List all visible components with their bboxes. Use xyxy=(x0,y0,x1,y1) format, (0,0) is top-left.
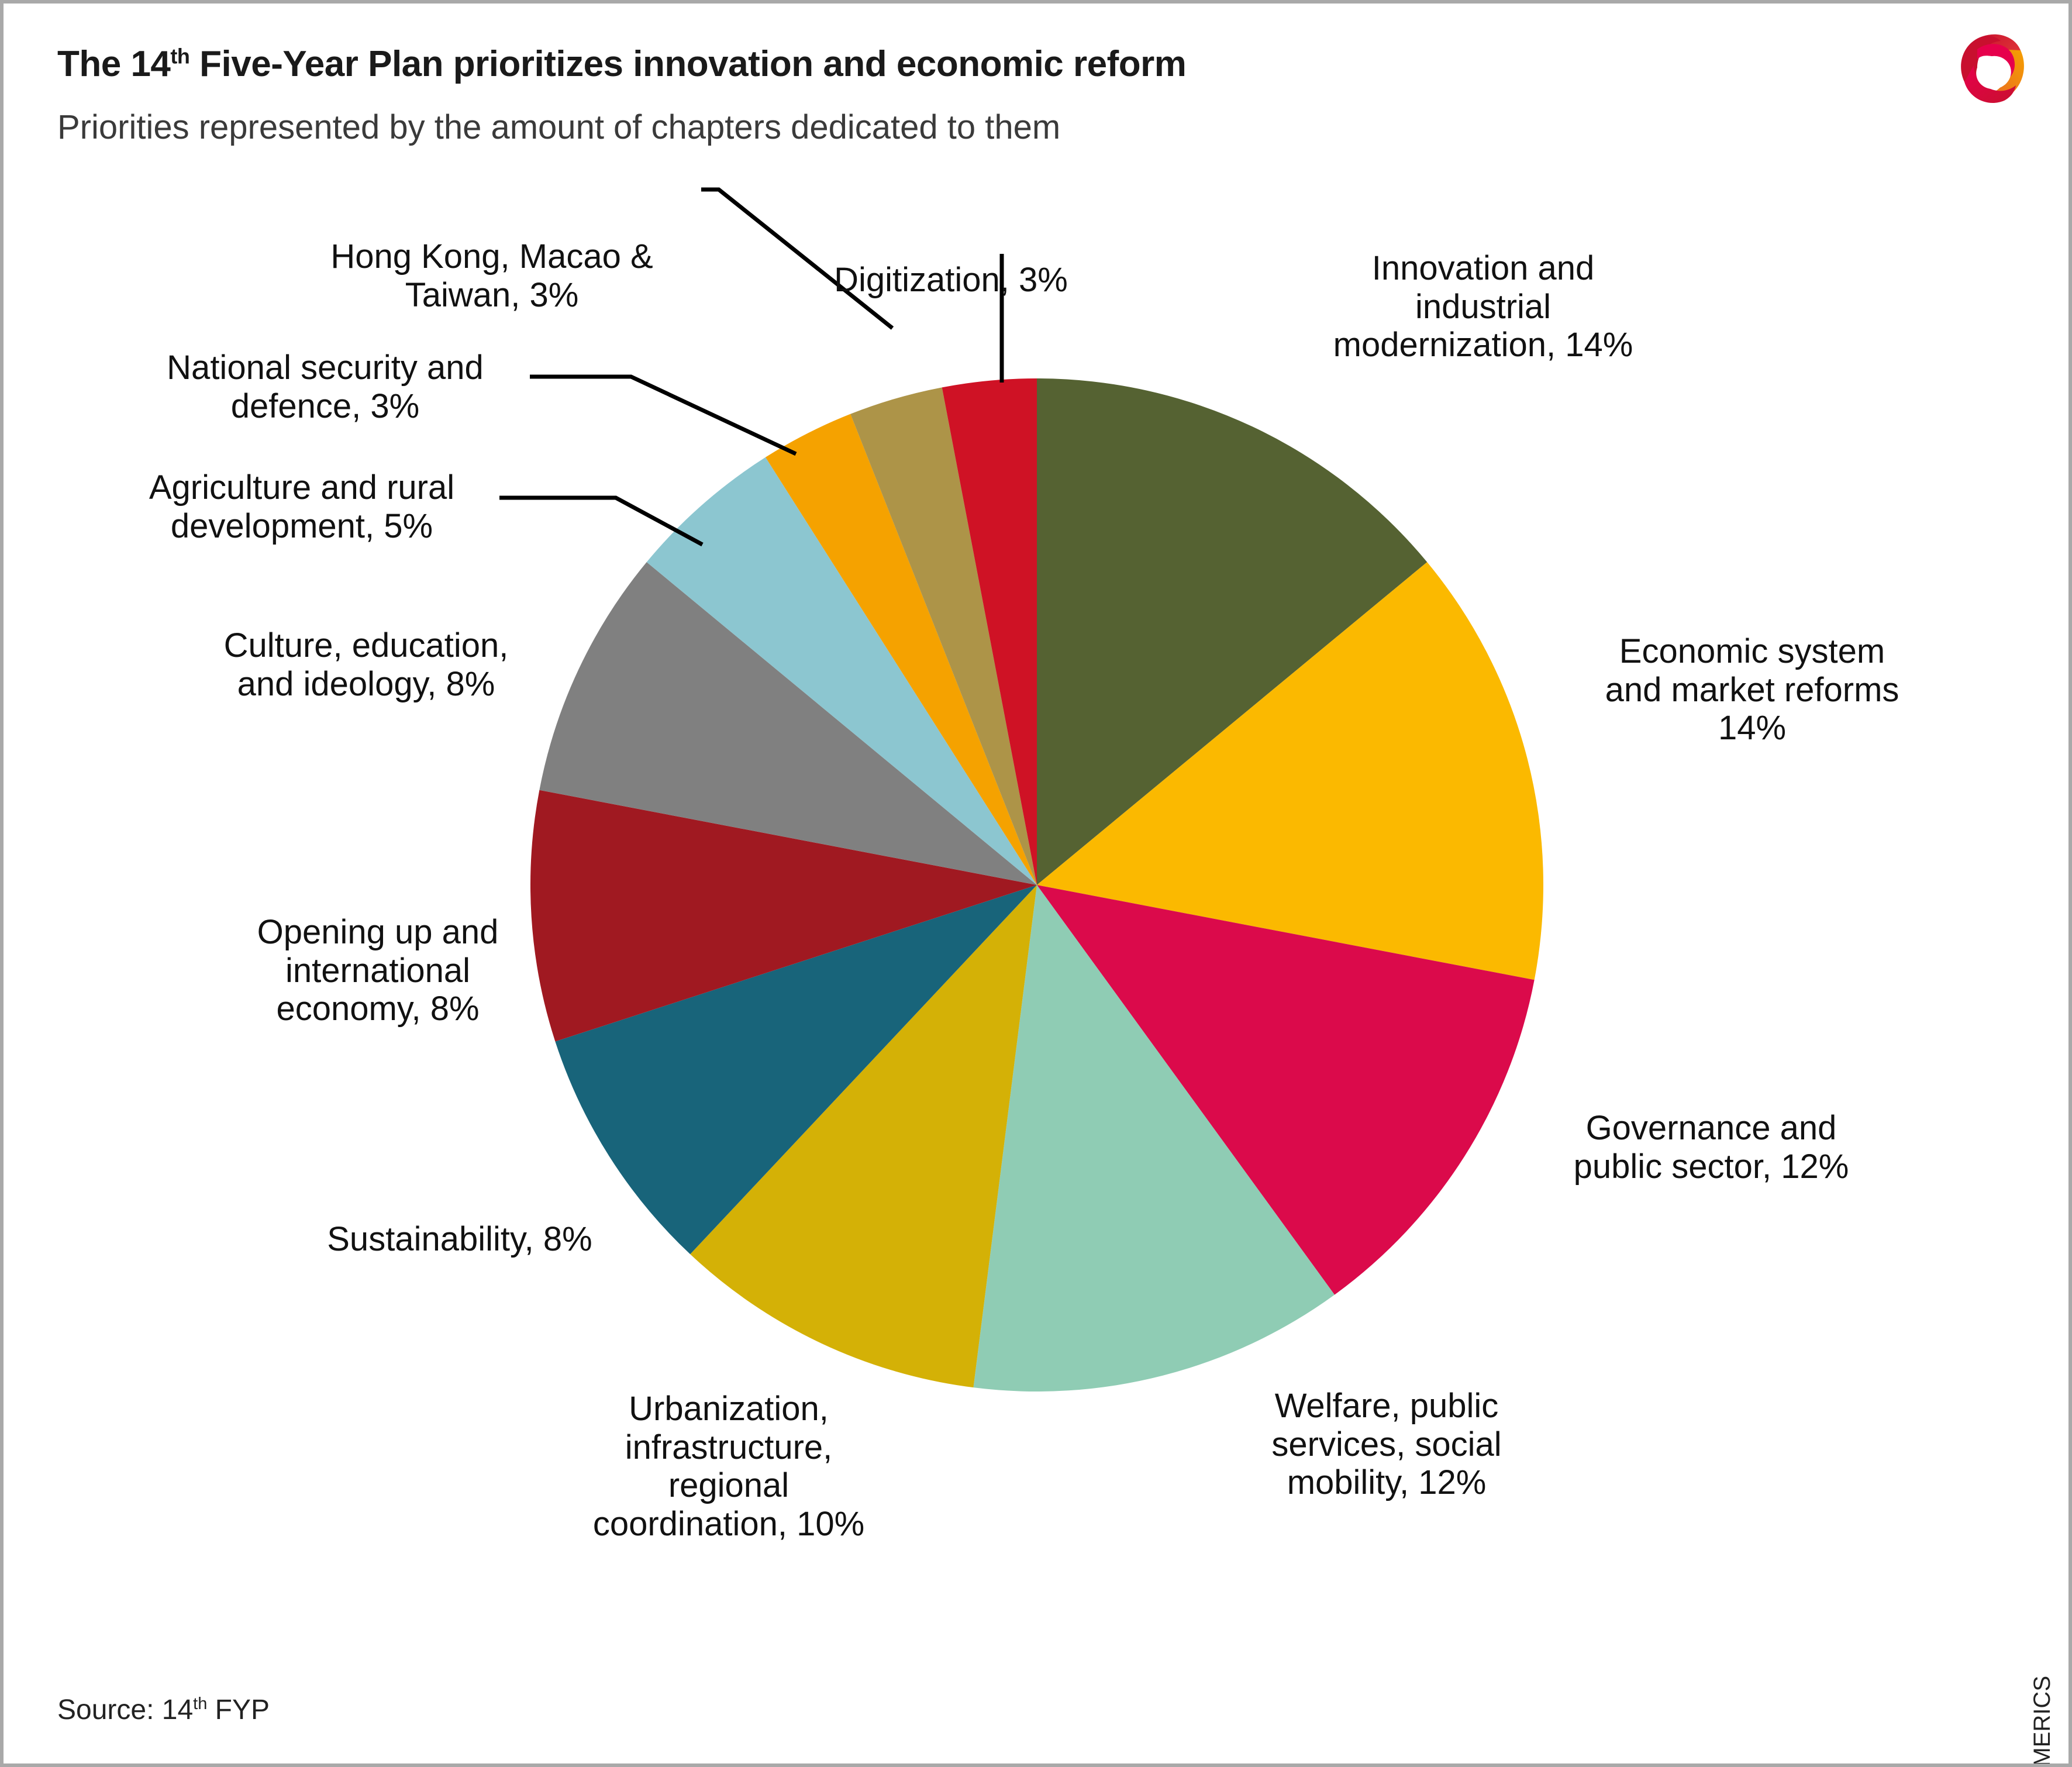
slice-label-hong-kong-macao-taiwan: Hong Kong, Macao & Taiwan, 3% xyxy=(281,237,702,314)
slice-label-digitization: Digitization, 3% xyxy=(787,261,1115,299)
source-note: Source: 14th FYP xyxy=(57,1694,270,1726)
slice-label-economic-system: Economic system and market reforms 14% xyxy=(1565,632,1939,748)
slice-label-sustainability: Sustainability, 8% xyxy=(273,1220,647,1259)
source-text-pre: Source: 14 xyxy=(57,1694,193,1725)
source-ordinal-suffix: th xyxy=(193,1694,207,1713)
slice-label-innovation: Innovation and industrial modernization,… xyxy=(1278,249,1688,364)
slice-label-welfare: Welfare, public services, social mobilit… xyxy=(1223,1387,1550,1502)
copyright-label: © MERICS xyxy=(2029,1676,2056,1763)
slice-label-opening-up: Opening up and international economy, 8% xyxy=(214,913,542,1028)
leader-line-hong-kong xyxy=(701,190,892,328)
source-text-post: FYP xyxy=(207,1694,270,1725)
slice-label-governance: Governance and public sector, 12% xyxy=(1524,1109,1898,1186)
slice-label-national-security: National security and defence, 3% xyxy=(115,349,536,425)
slice-label-culture-education: Culture, education, and ideology, 8% xyxy=(173,626,559,703)
slice-label-agriculture: Agriculture and rural development, 5% xyxy=(91,469,512,545)
chart-page: The 14th Five-Year Plan prioritizes inno… xyxy=(4,4,2068,1763)
leader-line-national-security xyxy=(530,377,796,454)
pie-slices xyxy=(530,378,1543,1391)
slice-label-urbanization: Urbanization, infrastructure, regional c… xyxy=(542,1390,916,1543)
